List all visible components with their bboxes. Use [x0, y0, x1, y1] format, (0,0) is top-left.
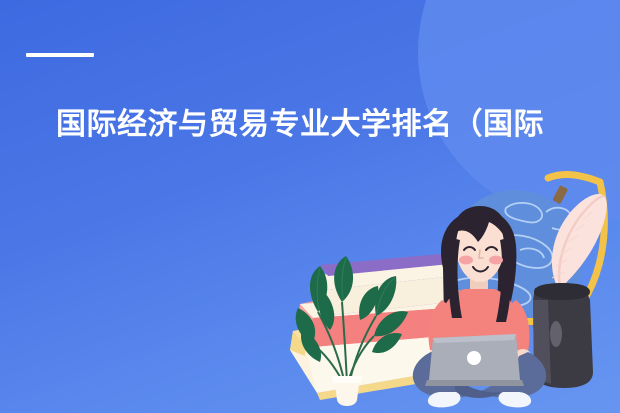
- globe-pivot: [552, 185, 568, 204]
- inkwell-glint: [550, 321, 562, 347]
- girl-shoe-left: [428, 392, 461, 407]
- inkwell-mouth: [534, 283, 590, 300]
- page-root: 国际经济与贸易专业大学排名（国际: [0, 0, 620, 413]
- plant-pot-rim: [332, 376, 362, 383]
- girl-blush-right: [489, 256, 503, 265]
- girl-shoe-right: [498, 392, 531, 407]
- globe-meridian-arc-top: [548, 175, 600, 182]
- laptop-logo: [467, 351, 481, 365]
- girl-blush-left: [459, 256, 473, 265]
- laptop-base: [425, 380, 524, 386]
- study-scene-illustration: [0, 0, 620, 413]
